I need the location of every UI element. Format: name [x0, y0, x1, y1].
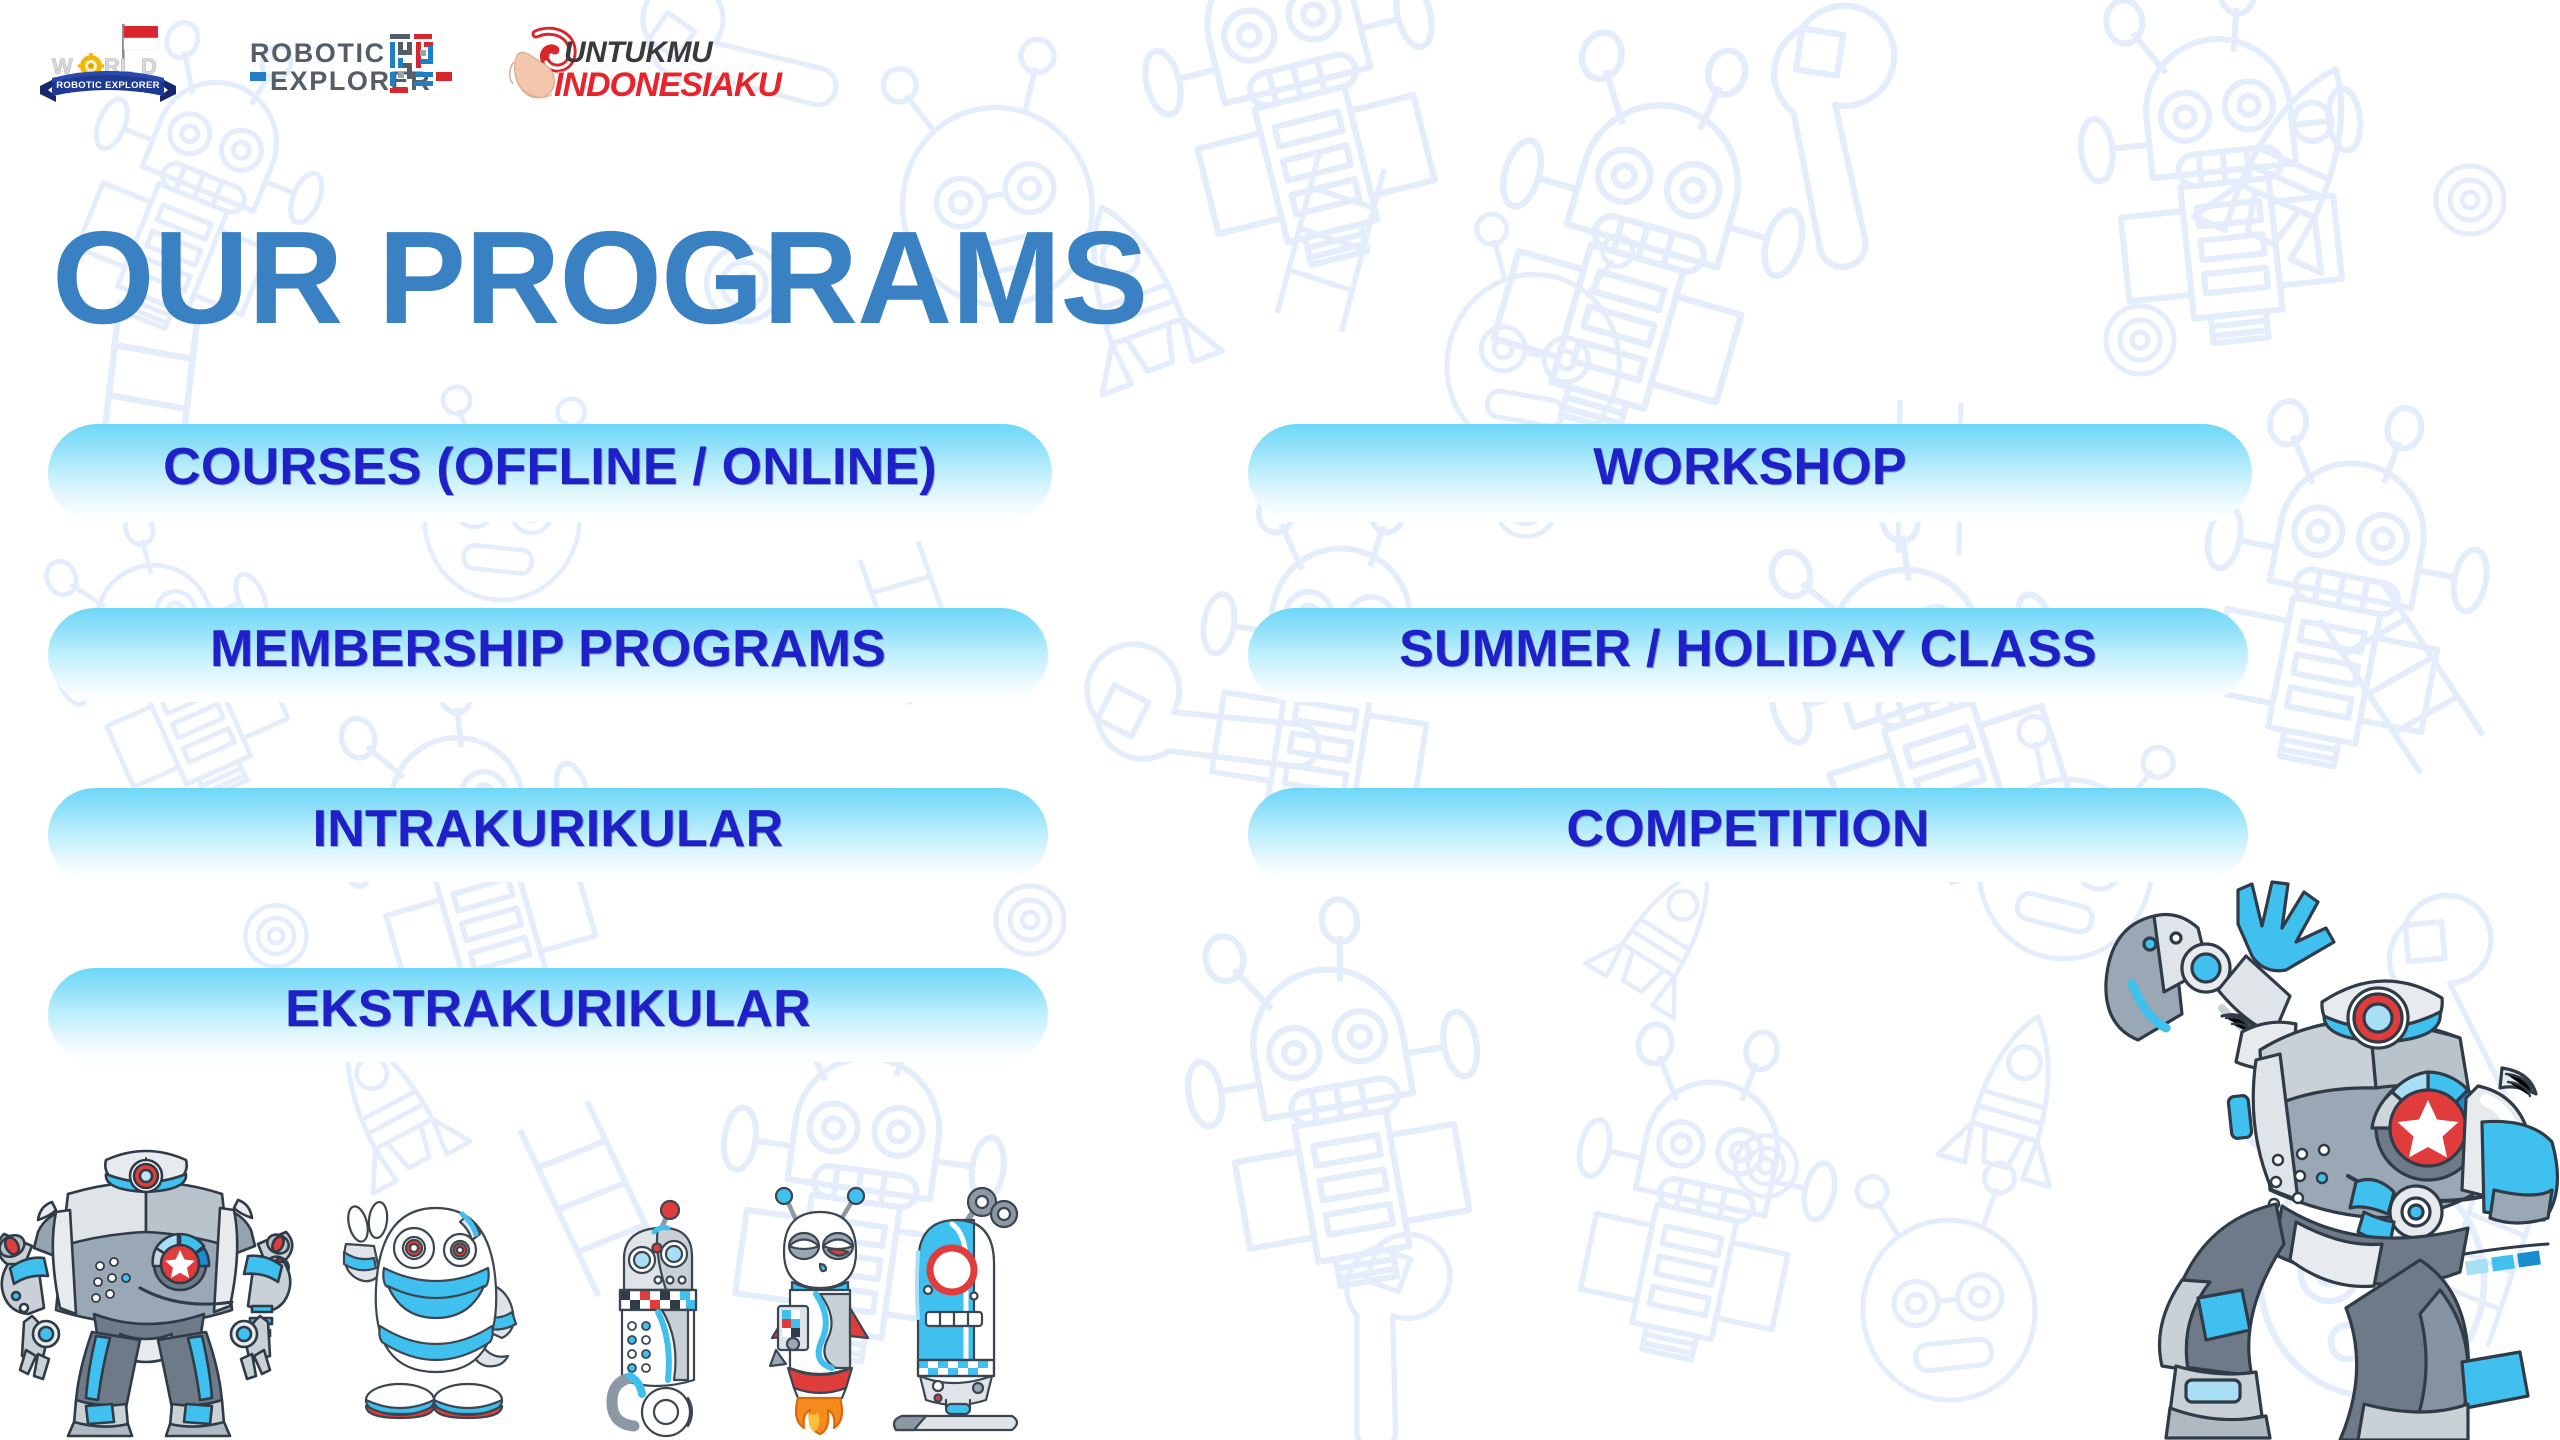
program-pill-label: MEMBERSHIP PROGRAMS: [210, 619, 886, 679]
slide-canvas: W RL D ROBOTIC EXPLORER: [0, 0, 2560, 1440]
program-pill-label: WORKSHOP: [1593, 437, 1907, 497]
robot-big-left-illustration: [0, 1138, 310, 1438]
badge-secondary-text: UNTUKMU INDONESIAKU: [71, 92, 144, 98]
program-pill-summer-holiday-class[interactable]: SUMMER / HOLIDAY CLASS: [1248, 608, 2248, 702]
robot-egg-illustration: [336, 1190, 536, 1440]
robot-hero-right-illustration: [2110, 860, 2560, 1440]
program-pill-label: COURSES (OFFLINE / ONLINE): [163, 437, 937, 497]
robot-wheel-illustration: [600, 1200, 730, 1440]
program-pill-label: COMPETITION: [1566, 799, 1929, 859]
untukmu-line1: UNTUKMU: [564, 36, 714, 69]
badge-primary-text: ROBOTIC EXPLORER: [56, 80, 160, 91]
program-pill-intrakurikuler[interactable]: INTRAKURIKULAR: [48, 788, 1048, 882]
robotic-explorer-logo: ROBOTIC EXPLORER: [250, 28, 495, 108]
program-pill-ekstrakurikuler[interactable]: EKSTRAKURIKULAR: [48, 968, 1048, 1062]
untukmu-indonesiaku-logo: UNTUKMU INDONESIAKU: [500, 28, 790, 106]
world-robotic-explorer-logo: W RL D ROBOTIC EXPLORER: [38, 22, 178, 110]
program-pill-courses[interactable]: COURSES (OFFLINE / ONLINE): [48, 424, 1052, 522]
program-pill-competition[interactable]: COMPETITION: [1248, 788, 2248, 882]
robot-rocket-illustration: [750, 1190, 890, 1440]
program-pill-membership[interactable]: MEMBERSHIP PROGRAMS: [48, 608, 1048, 702]
program-pill-workshop[interactable]: WORKSHOP: [1248, 424, 2252, 522]
logo-bar: W RL D ROBOTIC EXPLORER: [0, 0, 820, 120]
page-title: OUR PROGRAMS: [52, 212, 1147, 344]
program-pill-label: SUMMER / HOLIDAY CLASS: [1399, 619, 2097, 679]
program-pill-label: EKSTRAKURIKULAR: [285, 979, 811, 1039]
program-pill-label: INTRAKURIKULAR: [313, 799, 784, 859]
robot-skate-illustration: [890, 1190, 1030, 1440]
untukmu-line2: INDONESIAKU: [554, 66, 783, 104]
robotic-wordmark-line1: ROBOTIC: [250, 38, 386, 68]
